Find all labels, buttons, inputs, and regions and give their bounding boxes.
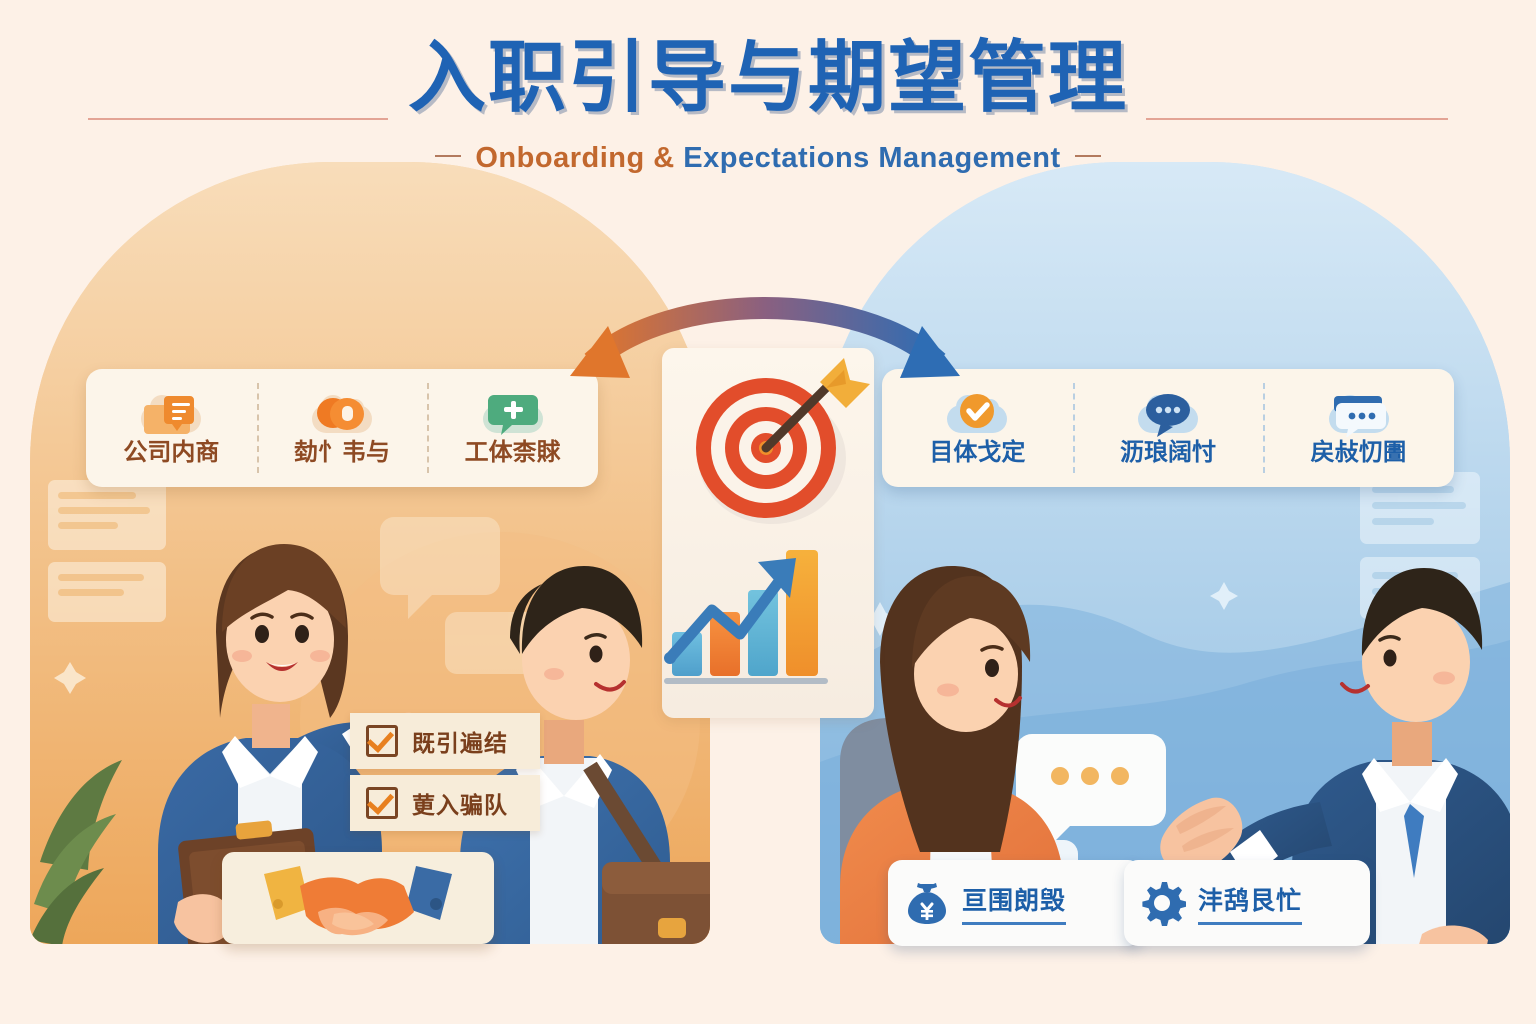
page-subtitle: Onboarding & Expectations Management: [0, 142, 1536, 175]
checkbox-checked-icon[interactable]: [366, 725, 398, 757]
subtitle-right-text: Expectations Management: [683, 142, 1060, 174]
checklist-item[interactable]: 莄入骗队: [350, 775, 540, 831]
handshake-badge: [222, 852, 494, 944]
card-feedback-loop[interactable]: 戻敊忉圕: [1263, 369, 1454, 487]
infographic-canvas: 入职引导与期望管理 Onboarding & Expectations Mana…: [0, 0, 1536, 1024]
checklist-label: 既引遍结: [412, 724, 508, 758]
pill-label: 亘围朗毁: [962, 881, 1066, 925]
card-label: 工体柰賕: [465, 441, 561, 465]
card-regular-communication[interactable]: 沥琅阔忖: [1073, 369, 1264, 487]
center-column: [640, 300, 896, 720]
card-team-intro[interactable]: 勎忄韦与: [257, 369, 428, 487]
onboarding-card-strip: 公司内商 勎忄韦与: [86, 369, 598, 487]
gear-icon: [1140, 880, 1186, 926]
subtitle-dash-right: [1075, 155, 1101, 157]
header: 入职引导与期望管理 Onboarding & Expectations Mana…: [0, 0, 1536, 196]
handshake-icon: [222, 852, 494, 944]
center-graphics: [640, 336, 896, 736]
subtitle-dash-left: [435, 155, 461, 157]
speech-bubble-icon: [1135, 391, 1201, 437]
onboarding-checklist: 既引遍结 莄入骗队: [350, 713, 540, 831]
checklist-item[interactable]: 既引遍结: [350, 713, 540, 769]
title-rule-right: [1146, 118, 1448, 120]
card-label: 目体戈定: [929, 441, 1025, 465]
title-rule-left: [88, 118, 388, 120]
coins-stack-icon: [309, 391, 375, 437]
page-title: 入职引导与期望管理: [0, 38, 1536, 116]
money-bag-icon: [904, 880, 950, 926]
card-label: 戻敊忉圕: [1311, 441, 1407, 465]
chat-box-icon: [1326, 391, 1392, 437]
pill-label: 沣鸹艮忙: [1198, 881, 1302, 925]
subtitle-ampersand: &: [653, 142, 674, 174]
subtitle-left-text: Onboarding: [475, 142, 644, 174]
card-company-intro[interactable]: 公司内商: [86, 369, 257, 487]
folder-document-icon: [138, 391, 204, 437]
chat-plus-icon: [480, 391, 546, 437]
growth-bar-chart-icon: [664, 550, 828, 684]
card-label: 沥琅阔忖: [1120, 441, 1216, 465]
card-label: 勎忄韦与: [294, 441, 390, 465]
checkbox-checked-icon[interactable]: [366, 787, 398, 819]
bidirectional-arrow-icon: [530, 280, 1000, 390]
pill-badge-continuous-improvement[interactable]: 沣鸹艮忙: [1124, 860, 1370, 946]
pill-badge-salary-expectation[interactable]: 亘围朗毁: [888, 860, 1142, 946]
checklist-label: 莄入骗队: [412, 786, 508, 820]
card-label: 公司内商: [123, 441, 219, 465]
check-circle-icon: [944, 391, 1010, 437]
